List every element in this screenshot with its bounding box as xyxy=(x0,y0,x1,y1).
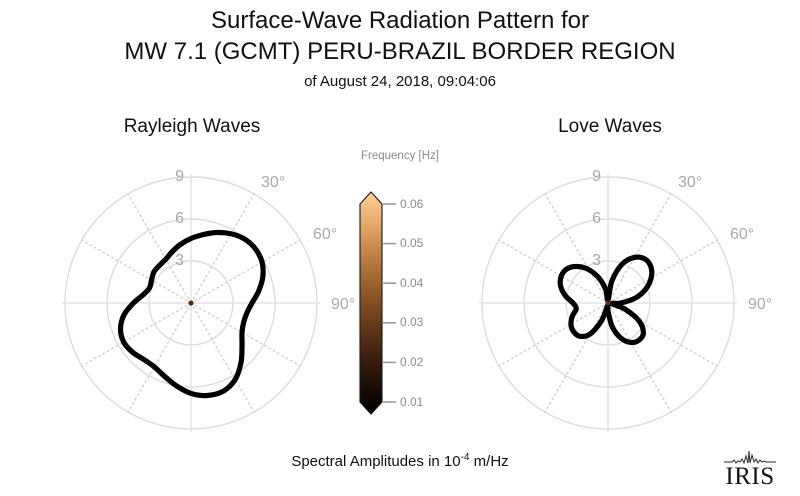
radial-tick-3: 3 xyxy=(175,252,184,269)
colorbar-title: Frequency [Hz] xyxy=(330,150,470,162)
origin-dot xyxy=(605,300,610,305)
iris-logo-text: IRIS xyxy=(706,464,794,490)
title-line-2: MW 7.1 (GCMT) PERU-BRAZIL BORDER REGION xyxy=(0,36,800,68)
radial-tick-6: 6 xyxy=(592,210,601,227)
caption-suffix: m/Hz xyxy=(470,453,509,470)
figure-root: Surface-Wave Radiation Pattern for MW 7.… xyxy=(0,0,800,496)
polar-plot-love: 3 6 9 30° 60° 90° xyxy=(458,153,778,455)
angular-tick-90: 90° xyxy=(748,296,772,313)
colorbar-tick-label-5: 0.01 xyxy=(400,395,423,409)
rayleigh-svg: 3 6 9 30° 60° 90° xyxy=(41,153,361,455)
iris-logo: IRIS xyxy=(706,450,794,494)
angular-tick-30: 30° xyxy=(678,174,702,191)
love-svg: 3 6 9 30° 60° 90° xyxy=(458,153,778,455)
colorbar-tick-label-1: 0.05 xyxy=(400,236,423,250)
polar-plot-rayleigh: 3 6 9 30° 60° 90° xyxy=(41,153,361,455)
angular-tick-60: 60° xyxy=(730,226,754,243)
caption-prefix: Spectral Amplitudes in 10 xyxy=(291,453,460,470)
radial-tick-3: 3 xyxy=(592,252,601,269)
figure-title-block: Surface-Wave Radiation Pattern for MW 7.… xyxy=(0,6,800,93)
origin-dot xyxy=(188,300,193,305)
title-line-1: Surface-Wave Radiation Pattern for xyxy=(0,6,800,36)
colorbar-tick-label-2: 0.04 xyxy=(400,276,423,290)
panel-title-love: Love Waves xyxy=(460,116,760,138)
colorbar: Frequency [Hz] xyxy=(330,150,470,420)
colorbar-ticks xyxy=(383,204,396,402)
panel-title-rayleigh: Rayleigh Waves xyxy=(42,116,342,138)
colorbar-svg xyxy=(330,178,470,428)
radial-tick-9: 9 xyxy=(175,168,184,185)
angular-tick-30: 30° xyxy=(261,174,285,191)
colorbar-tick-label-3: 0.03 xyxy=(400,315,423,329)
title-line-3: of August 24, 2018, 09:04:06 xyxy=(0,71,800,93)
caption-exponent: -4 xyxy=(461,452,470,463)
love-curve xyxy=(560,257,652,342)
seismogram-trace xyxy=(724,451,776,463)
radial-tick-6: 6 xyxy=(175,210,184,227)
colorbar-tick-label-0: 0.06 xyxy=(400,197,423,211)
figure-caption: Spectral Amplitudes in 10-4 m/Hz xyxy=(0,452,800,470)
colorbar-gradient-bar xyxy=(360,192,382,414)
radial-tick-9: 9 xyxy=(592,168,601,185)
colorbar-tick-label-4: 0.02 xyxy=(400,355,423,369)
